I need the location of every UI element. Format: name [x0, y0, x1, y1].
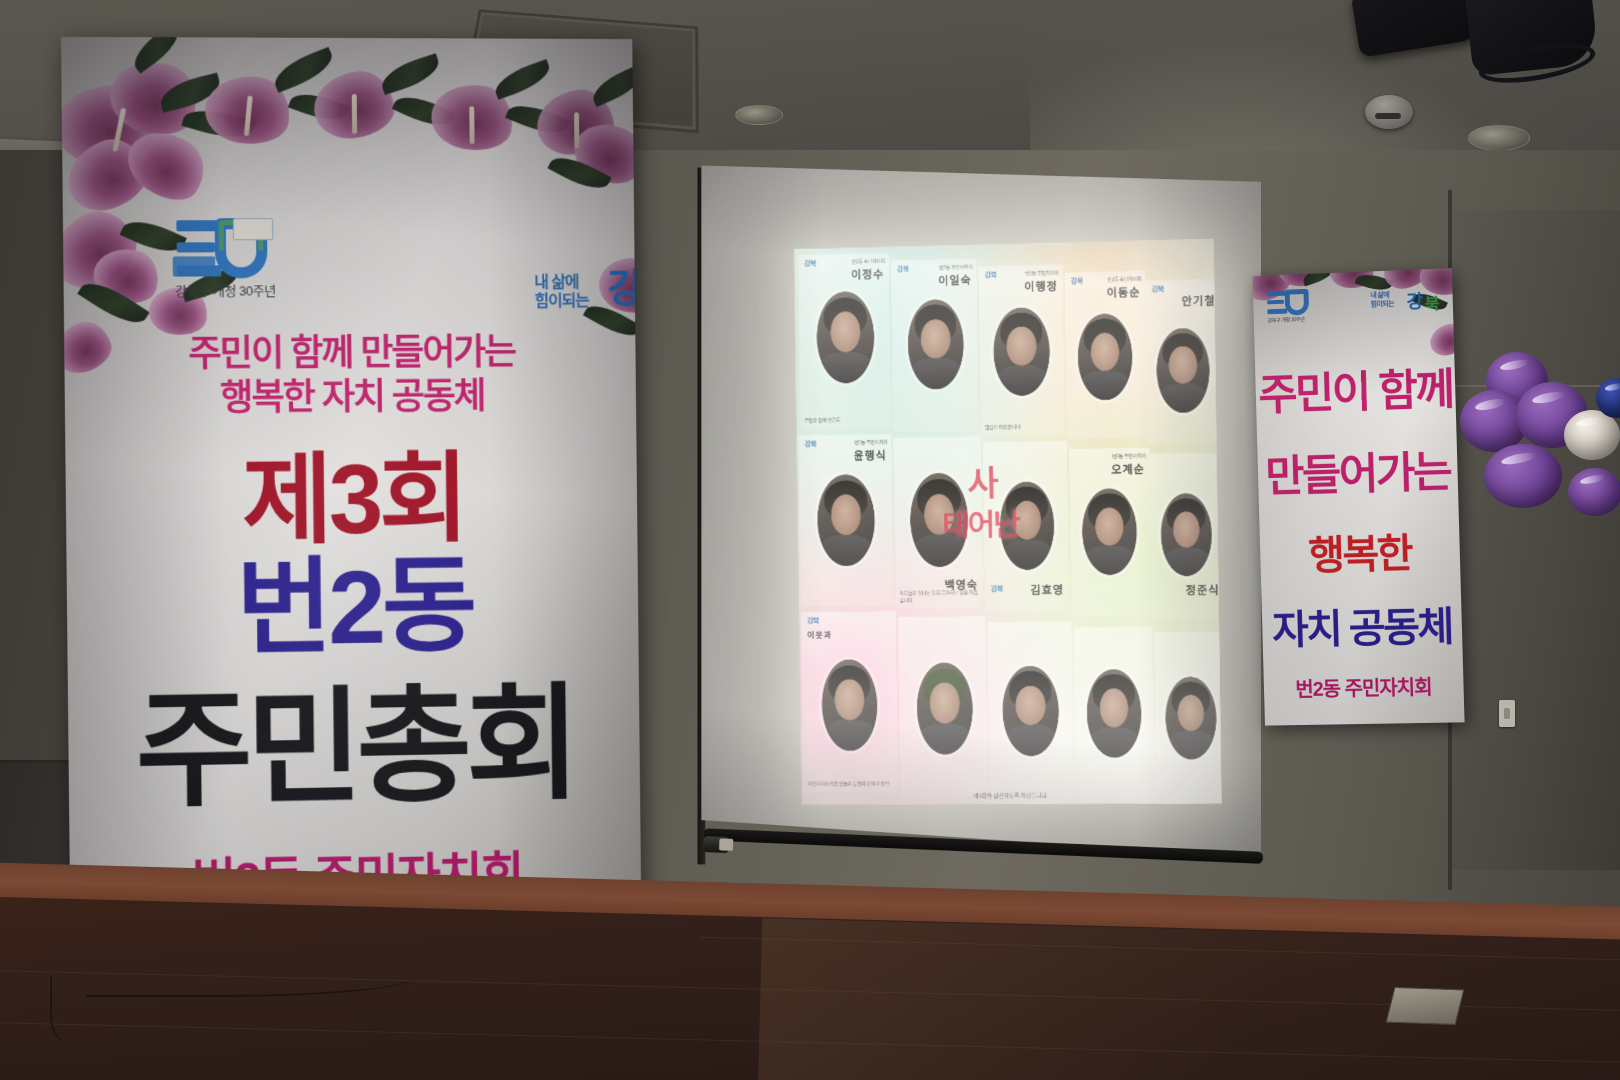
card-name: 이행정: [1024, 278, 1058, 295]
portrait-body: [1090, 727, 1138, 757]
member-portrait: [916, 662, 973, 754]
card-quote: 주민과 함께 한걸음: [804, 417, 887, 425]
card-quote: 아이들의 빛나는 웃음 응원하는 일을 하겠습니다: [899, 590, 979, 605]
projected-slide: 강북 번2동 주민자치회 이정수 주민과 함께 한걸음 강북 번2동 주민자치회…: [794, 239, 1222, 805]
member-card: [898, 616, 988, 796]
card-quote: 열심히 하겠습니다: [985, 424, 1061, 432]
member-portrait: [1160, 493, 1212, 576]
purple-balloon: [1568, 468, 1620, 516]
member-card: 강북 번2동 주민자치회 윤행식: [799, 434, 894, 606]
portrait-face: [830, 311, 860, 352]
district-logo-tagline: 내 삶에 힘이되는: [534, 273, 588, 311]
tagline-line-1: 내 삶에: [1370, 292, 1389, 300]
member-card: 강북 번2동 주민자치회 이동순: [1065, 271, 1148, 439]
main-event-banner: 강북구 개청 30주년 내 삶에 힘이되는 강 북 주민이 함께 만들어가는 행…: [61, 37, 642, 973]
member-portrait: [821, 659, 878, 751]
portrait-face: [930, 683, 960, 724]
member-card: 강북 번2동 주민자치회 이정수 주민과 함께 한걸음: [798, 253, 891, 430]
portrait-face: [835, 679, 864, 719]
member-portrait: [1077, 313, 1133, 400]
card-name: 이웃과: [807, 630, 832, 641]
card-role: 번2동 주민자치회: [854, 439, 887, 447]
portrait-body: [1160, 384, 1207, 414]
anniversary-30-logo: 강북구 개청 30주년: [1267, 287, 1320, 329]
card-role: 번2동 주민자치회: [1025, 270, 1059, 278]
card-name: 오계순: [1111, 461, 1145, 478]
card-name: 이일숙: [938, 272, 971, 289]
card-name: 정준식: [1186, 582, 1220, 599]
anniversary-logo-caption: 강북구 개청 30주년: [1268, 316, 1305, 324]
banner-subtitle-line-2: 행복한 자치 공동체: [64, 366, 636, 422]
slide-overlay-text-line-2: 태어난: [942, 500, 1019, 545]
member-card: [1074, 627, 1155, 802]
card-gangbuk-logo: 강북: [897, 264, 909, 274]
card-name: 김효영: [1030, 581, 1064, 597]
anniversary-logo-caption: 강북구 개청 30주년: [175, 280, 308, 300]
portrait-face: [1169, 346, 1197, 384]
portrait-body: [1081, 370, 1129, 400]
banner-organizer: 번2동 주민자치회: [1264, 670, 1464, 703]
tagline-line-1: 내 삶에: [534, 274, 578, 291]
card-name: 이정수: [851, 266, 884, 283]
portrait-body: [911, 358, 960, 389]
member-card: 정준식: [1150, 452, 1222, 618]
power-cable: [50, 975, 110, 1045]
tagline-line-2: 힘이되는: [1370, 301, 1394, 309]
card-gangbuk-logo: 강북: [804, 259, 816, 269]
slogan-line-4: 자치 공동체: [1261, 594, 1462, 656]
card-role: 번2동 주민자치회: [852, 258, 885, 266]
portrait-body: [997, 365, 1047, 396]
purple-balloon: [1484, 444, 1562, 508]
tagline-line-2: 힘이되는: [535, 293, 589, 310]
member-portrait: [907, 299, 964, 390]
district-logo-word-buk: 북: [1424, 290, 1439, 315]
recessed-downlight: [735, 105, 783, 125]
card-role: 번2동 주민자치회: [1107, 276, 1141, 284]
slogan-line-1: 주민이 함께: [1255, 355, 1456, 424]
member-portrait: [1002, 666, 1059, 756]
member-card: 강북 번2동 주민자치회 이일숙: [891, 259, 979, 432]
projection-screen: 강북 번2동 주민자치회 이정수 주민과 함께 한걸음 강북 번2동 주민자치회…: [701, 148, 1261, 877]
portrait-face: [1177, 695, 1204, 732]
member-portrait: [1082, 488, 1138, 575]
portrait-body: [825, 720, 874, 751]
floor-air-vent: [1386, 987, 1465, 1025]
card-quote: 주민자치의 위한 번동의 발전과 강북구 발전: [807, 782, 894, 789]
member-portrait: [993, 307, 1050, 396]
card-gangbuk-logo: 강북: [807, 616, 819, 626]
card-gangbuk-logo: 강북: [805, 439, 817, 449]
portrait-body: [920, 723, 969, 754]
portrait-face: [1095, 507, 1124, 545]
member-card: 번2동 주민자치회 오계순: [1069, 448, 1152, 618]
member-card: [1154, 632, 1221, 804]
portrait-body: [1169, 731, 1214, 759]
slide-footer-note: 제3회와 실천하도록 하겠습니다: [802, 790, 1222, 800]
card-role: 번2동 주민자치회: [1112, 453, 1146, 461]
portrait-face: [1173, 511, 1200, 548]
recessed-downlight: [1468, 125, 1530, 151]
logo-badge: [233, 218, 273, 240]
portrait-body: [821, 535, 872, 567]
portrait-body: [1164, 548, 1209, 577]
portrait-face: [1016, 686, 1046, 726]
secondary-slogan-banner: 강북구 개청 30주년 내 삶에 힘이되는 강 북 주민이 함께 만들어가는 행…: [1253, 268, 1465, 725]
member-portrait: [816, 291, 874, 384]
member-card: [987, 621, 1074, 800]
anniversary-30-logo: 강북구 개청 30주년: [174, 216, 296, 309]
member-portrait: [1086, 669, 1142, 758]
member-card: 강북 이웃과 주민자치의 위한 번동의 발전과 강북구 발전: [801, 611, 898, 793]
banner-title-main: 주민총회: [67, 642, 640, 834]
card-gangbuk-logo: 강북: [1151, 284, 1163, 294]
portrait-body: [1006, 725, 1056, 756]
district-logo-word-gang: 강: [1406, 287, 1423, 314]
member-portrait: [817, 474, 875, 566]
slogan-line-2: 만들어가는: [1257, 437, 1458, 505]
card-role: 번2동 주민자치회: [939, 264, 973, 272]
slogan-line-3: 행복한: [1259, 519, 1460, 582]
portrait-face: [921, 319, 950, 359]
gangbuk-district-logo: 내 삶에 힘이되는 강 북: [1370, 287, 1445, 322]
card-name: 이동순: [1107, 284, 1141, 301]
portrait-body: [1086, 545, 1134, 575]
member-card: 강북 번2동 주민자치회 이행정 열심히 하겠습니다: [978, 265, 1064, 437]
district-logo-tagline: 내 삶에 힘이되는: [1370, 291, 1394, 310]
card-gangbuk-logo: 강북: [984, 270, 996, 280]
portrait-body: [821, 351, 872, 383]
smoke-detector-icon: [1365, 95, 1413, 129]
card-gangbuk-logo: 강북: [1071, 276, 1083, 286]
member-portrait: [1165, 676, 1217, 759]
card-gangbuk-logo: 강북: [991, 584, 1003, 594]
portrait-body: [1003, 540, 1051, 571]
logo-numeral-0: [1285, 289, 1310, 316]
member-card: 강북 안기철: [1145, 279, 1221, 444]
card-name: 안기철: [1182, 292, 1216, 309]
wall-outlet[interactable]: [1499, 700, 1515, 727]
hall-photo-scene: 강북구 개청 30주년 내 삶에 힘이되는 강 북 주민이 함께 만들어가는 행…: [0, 0, 1620, 1080]
portrait-face: [1100, 689, 1129, 728]
screen-surface: 강북 번2동 주민자치회 이정수 주민과 함께 한걸음 강북 번2동 주민자치회…: [701, 162, 1261, 857]
logo-badge-secondary: [173, 256, 216, 276]
portrait-face: [831, 494, 861, 535]
slide-overlay-text-line-1: 사: [967, 456, 997, 505]
member-portrait: [1156, 328, 1210, 414]
screen-bar-sleeve: [719, 838, 733, 851]
card-name: 윤행식: [854, 447, 887, 463]
portrait-face: [1091, 332, 1120, 371]
portrait-face: [1007, 327, 1037, 366]
balloon-decoration: [1460, 352, 1620, 582]
